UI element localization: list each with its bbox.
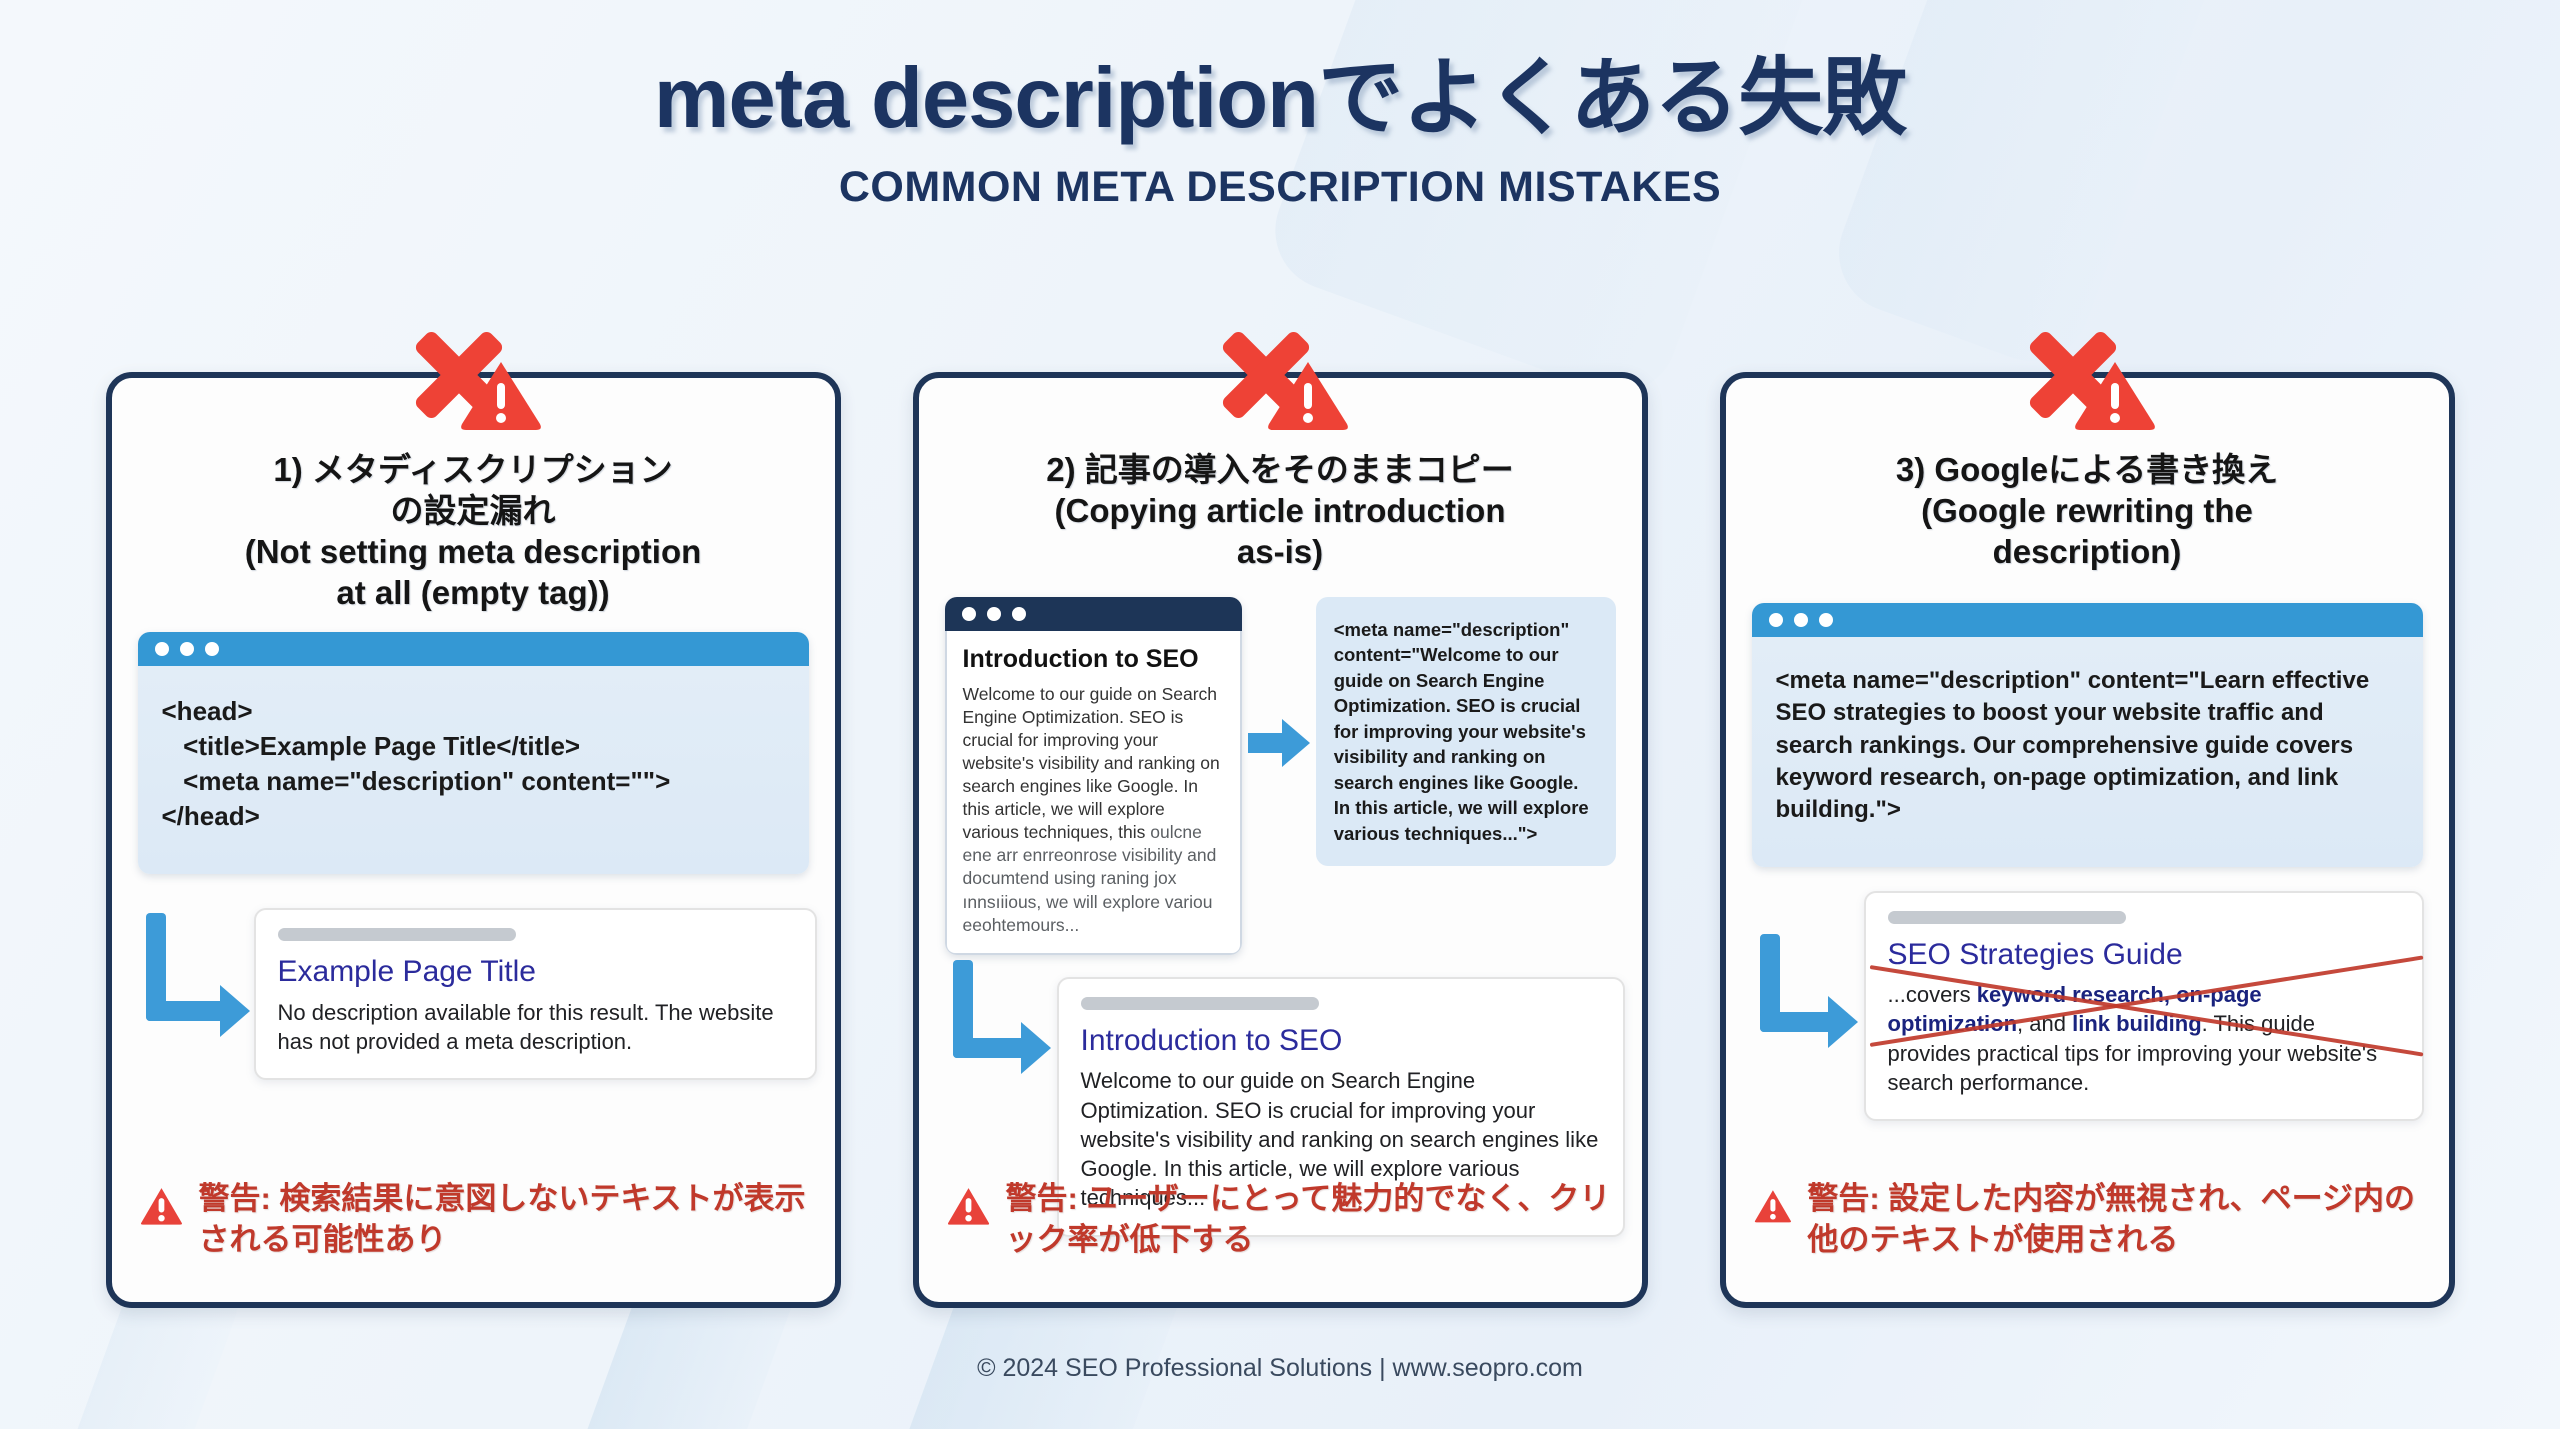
red-cross-warning-icon: [1200, 326, 1360, 432]
card-2-article-text: Welcome to our guide on Search Engine Op…: [963, 684, 1220, 843]
window-dot-green-icon: [1819, 613, 1833, 627]
card-2-meta-panel: <meta name="description" content="Welcom…: [1316, 597, 1616, 867]
serp-desc-part: ...covers: [1888, 982, 1977, 1007]
card-2-copy-arrow-icon: [1248, 719, 1310, 767]
window-dot-red-icon: [155, 642, 169, 656]
card-3-serp-title[interactable]: SEO Strategies Guide: [1888, 938, 2400, 973]
card-2-article-body: Introduction to SEO Welcome to our guide…: [945, 631, 1242, 955]
card-2-article-window: Introduction to SEO Welcome to our guide…: [945, 597, 1242, 955]
window-dot-yellow-icon: [180, 642, 194, 656]
red-cross-warning-icon: [393, 326, 553, 432]
serp-desc-keyword: link building: [2072, 1011, 2202, 1036]
card-2-article-heading: Introduction to SEO: [963, 645, 1224, 674]
card-3-code-text: <meta name="description" content="Learn …: [1752, 637, 2423, 867]
card-1-serp-description: No description available for this result…: [278, 998, 793, 1057]
card-1-serp-title[interactable]: Example Page Title: [278, 955, 793, 990]
serp-url-placeholder-bar: [1888, 911, 2126, 924]
window-dot-yellow-icon: [1794, 613, 1808, 627]
page-subtitle-english: COMMON META DESCRIPTION MISTAKES: [0, 163, 2560, 212]
card-3-title: 3) Googleによる書き換え (Google rewriting the d…: [1752, 450, 2423, 573]
card-2-article-paragraph: Welcome to our guide on Search Engine Op…: [963, 683, 1224, 937]
header: meta descriptionでよくある失敗 COMMON META DESC…: [0, 54, 2560, 212]
warning-triangle-icon: [947, 1179, 990, 1233]
card-2-warning: 警告: ユーザーにとって魅力的でなく、クリック率が低下する: [947, 1179, 1618, 1260]
window-dot-green-icon: [1012, 607, 1026, 621]
card-1-title: 1) メタディスクリプション の設定漏れ (Not setting meta d…: [138, 450, 809, 614]
serp-url-placeholder-bar: [278, 928, 516, 941]
window-titlebar: [1752, 603, 2423, 637]
card-1-code-window: <head> <title>Example Page Title</title>…: [138, 632, 809, 874]
card-2-panels: Introduction to SEO Welcome to our guide…: [945, 597, 1616, 955]
card-3-warning: 警告: 設定した内容が無視され、ページ内の他のテキストが使用される: [1754, 1179, 2425, 1260]
card-3-code-window: <meta name="description" content="Learn …: [1752, 603, 2423, 867]
window-dot-red-icon: [962, 607, 976, 621]
card-2-serp-title[interactable]: Introduction to SEO: [1081, 1024, 1601, 1059]
warning-triangle-icon: [140, 1179, 183, 1233]
window-titlebar: [945, 597, 1242, 631]
window-dot-red-icon: [1769, 613, 1783, 627]
mistake-cards-row: 1) メタディスクリプション の設定漏れ (Not setting meta d…: [0, 372, 2560, 1308]
card-2-warning-text: 警告: ユーザーにとって魅力的でなく、クリック率が低下する: [1006, 1179, 1618, 1260]
page-title-japanese: meta descriptionでよくある失敗: [0, 54, 2560, 143]
serp-desc-part: , and: [2017, 1011, 2072, 1036]
mistake-card-3: 3) Googleによる書き換え (Google rewriting the d…: [1720, 372, 2455, 1308]
serp-url-placeholder-bar: [1081, 997, 1319, 1010]
mistake-card-2: 2) 記事の導入をそのままコピー (Copying article introd…: [913, 372, 1648, 1308]
footer-copyright: © 2024 SEO Professional Solutions | www.…: [0, 1354, 2560, 1383]
card-1-serp-preview: Example Page Title No description availa…: [254, 908, 817, 1080]
card-1-warning-text: 警告: 検索結果に意図しないテキストが表示される可能性あり: [198, 1179, 810, 1260]
card-1-warning: 警告: 検索結果に意図しないテキストが表示される可能性あり: [140, 1179, 811, 1260]
card-3-serp-preview: SEO Strategies Guide ...covers keyword r…: [1864, 891, 2424, 1122]
red-cross-warning-icon: [2007, 326, 2167, 432]
card-3-serp-description: ...covers keyword research, on-page opti…: [1888, 980, 2400, 1097]
window-dot-yellow-icon: [987, 607, 1001, 621]
mistake-card-1: 1) メタディスクリプション の設定漏れ (Not setting meta d…: [106, 372, 841, 1308]
card-1-code-text: <head> <title>Example Page Title</title>…: [138, 666, 809, 874]
card-2-title: 2) 記事の導入をそのままコピー (Copying article introd…: [945, 450, 1616, 573]
card-3-warning-text: 警告: 設定した内容が無視され、ページ内の他のテキストが使用される: [1807, 1179, 2424, 1260]
warning-triangle-icon: [1754, 1179, 1792, 1233]
window-titlebar: [138, 632, 809, 666]
window-dot-green-icon: [205, 642, 219, 656]
